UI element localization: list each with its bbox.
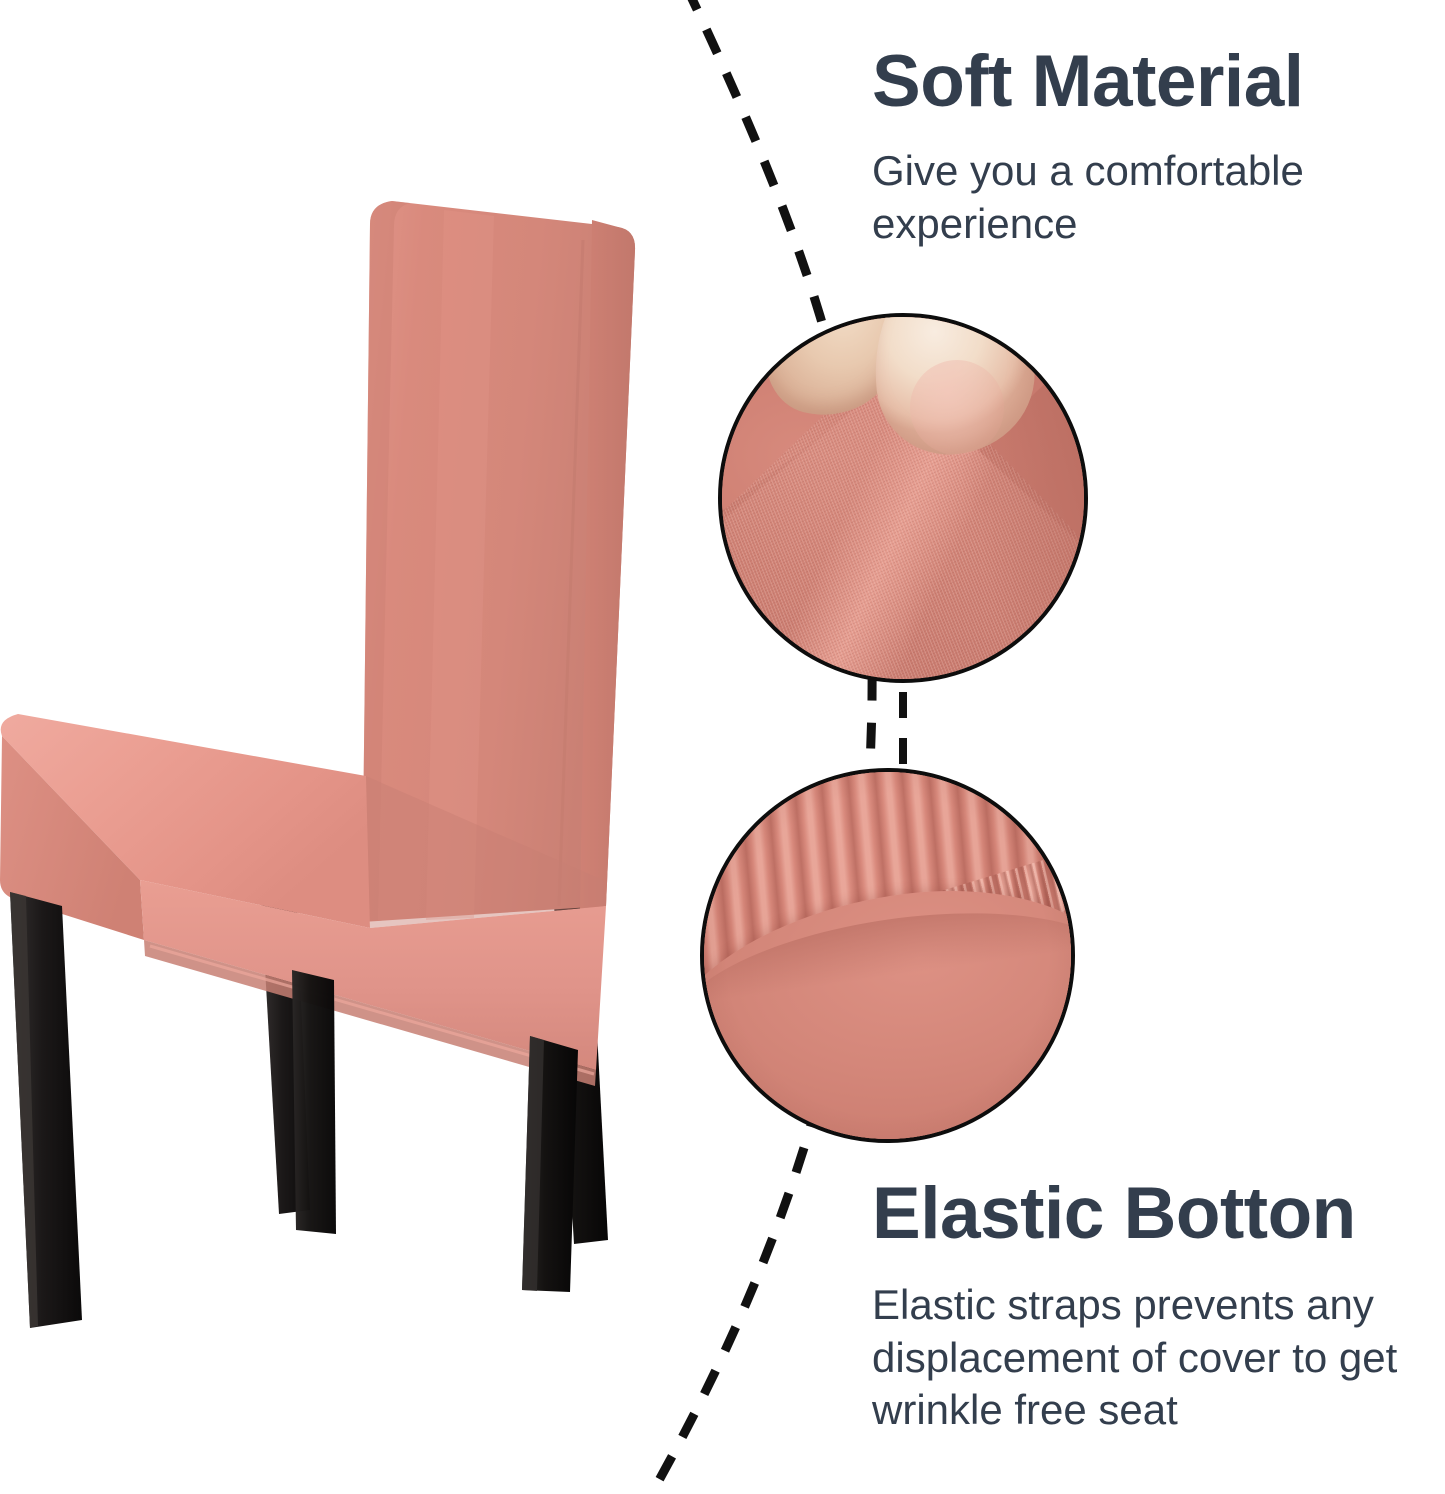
feature-description-elastic-bottom: Elastic straps prevents any displacement…: [872, 1279, 1417, 1438]
feature-elastic-bottom: Elastic Botton Elastic straps prevents a…: [872, 1176, 1432, 1437]
product-feature-infographic: Soft Material Give you a comfortable exp…: [0, 0, 1445, 1494]
feature-heading-soft-material: Soft Material: [872, 44, 1412, 121]
feature-heading-elastic-bottom: Elastic Botton: [872, 1176, 1432, 1253]
feature-description-soft-material: Give you a comfortable experience: [872, 145, 1377, 251]
feature-soft-material: Soft Material Give you a comfortable exp…: [872, 44, 1412, 250]
text-layer: Soft Material Give you a comfortable exp…: [0, 0, 1445, 1494]
